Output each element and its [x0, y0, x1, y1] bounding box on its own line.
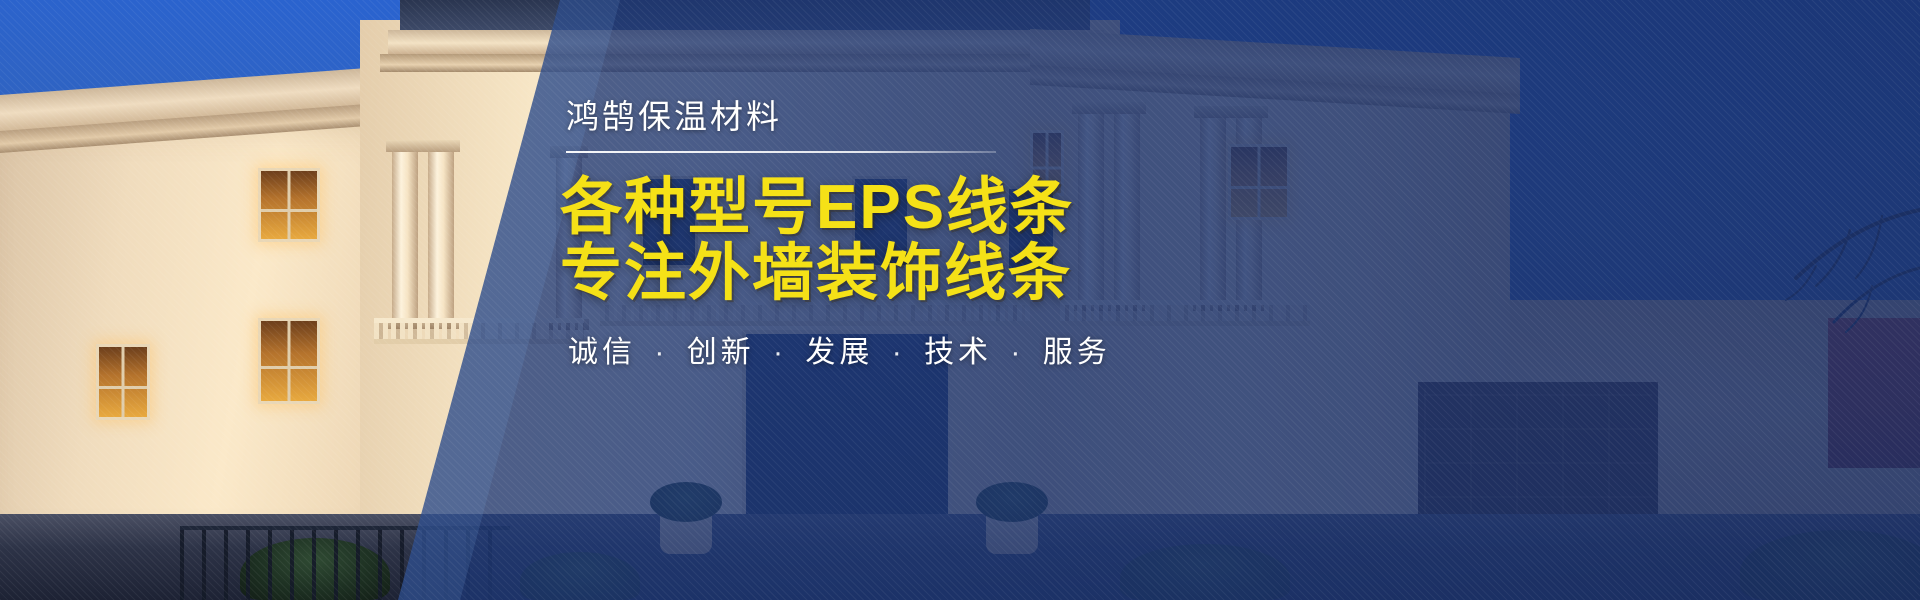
column: [428, 150, 454, 320]
tagline-item-5: 服务: [1043, 336, 1111, 369]
tagline-item-1: 诚信: [568, 336, 636, 369]
window-lit: [258, 318, 320, 404]
tagline: 诚信 · 创新 · 发展 · 技术 · 服务: [568, 333, 1320, 372]
tagline-item-4: 技术: [924, 336, 992, 369]
tagline-separator-icon: ·: [648, 336, 674, 369]
divider-rule: [566, 151, 996, 153]
hero-banner: 鸿鹄保温材料 各种型号EPS线条 专注外墙装饰线条 诚信 · 创新 · 发展 ·…: [0, 0, 1920, 600]
column: [392, 150, 418, 320]
banner-text-block: 鸿鹄保温材料 各种型号EPS线条 专注外墙装饰线条 诚信 · 创新 · 发展 ·…: [560, 96, 1320, 372]
window-lit: [258, 168, 320, 242]
window-lit: [96, 344, 150, 420]
tagline-item-3: 发展: [805, 336, 873, 369]
headline-line-2: 专注外墙装饰线条: [560, 241, 1320, 307]
company-name: 鸿鹄保温材料: [566, 96, 1320, 137]
tagline-item-2: 创新: [687, 336, 755, 369]
headline: 各种型号EPS线条 专注外墙装饰线条: [560, 175, 1320, 306]
tagline-separator-icon: ·: [767, 336, 793, 369]
tagline-separator-icon: ·: [886, 336, 912, 369]
headline-line-1: 各种型号EPS线条: [560, 175, 1320, 241]
villa-left-wing: [0, 120, 420, 550]
tagline-separator-icon: ·: [1004, 336, 1030, 369]
